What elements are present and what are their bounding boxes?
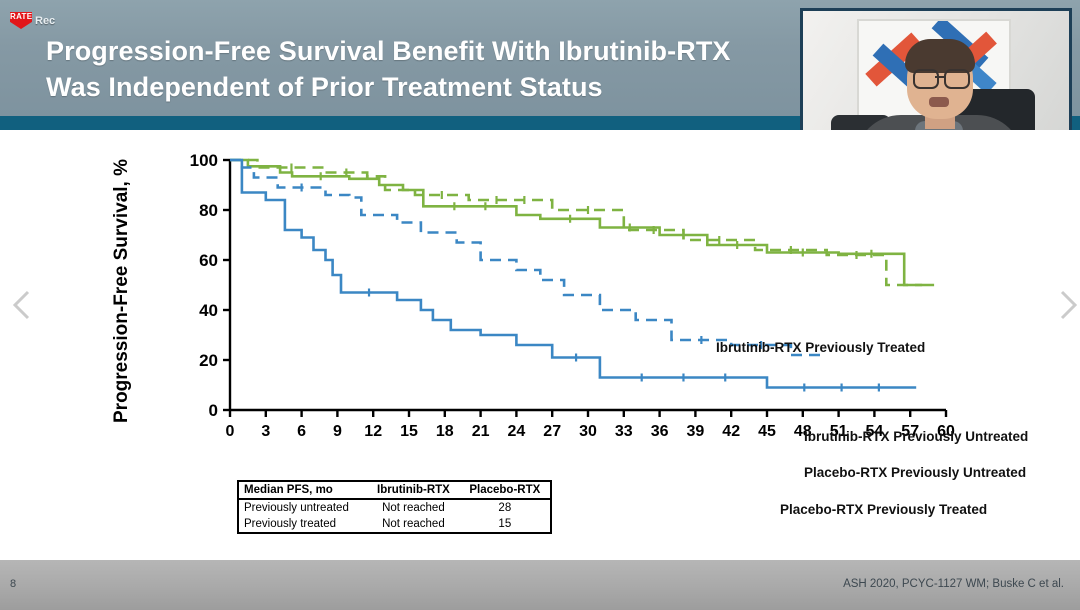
x-tick-label: 9 xyxy=(333,423,342,440)
curve-label-placebo-untreated: Placebo-RTX Previously Untreated xyxy=(804,465,1026,480)
median-pfs-header-cell: Placebo-RTX xyxy=(460,482,550,499)
x-tick-label: 12 xyxy=(364,423,382,440)
record-label: Rec xyxy=(35,15,55,27)
x-tick-label: 39 xyxy=(687,423,705,440)
curve-label-ibrutinib-treated: Ibrutinib-RTX Previously Treated xyxy=(716,340,925,355)
median-pfs-cell: 15 xyxy=(460,516,550,532)
x-tick-label: 30 xyxy=(579,423,597,440)
y-tick-label: 60 xyxy=(199,251,218,270)
glasses-right-lens-icon xyxy=(944,69,970,89)
curve-label-placebo-treated: Placebo-RTX Previously Treated xyxy=(780,502,987,517)
x-tick-label: 33 xyxy=(615,423,633,440)
x-tick-label: 42 xyxy=(722,423,740,440)
median-pfs-cell: Not reached xyxy=(367,516,459,532)
glasses-left-lens-icon xyxy=(913,69,939,89)
record-badge-text: RATE xyxy=(10,12,32,21)
median-pfs-table: Median PFS, moIbrutinib-RTXPlacebo-RTXPr… xyxy=(239,482,550,532)
series-placebo-rtx-previously-untreated xyxy=(230,160,827,355)
y-tick-label: 40 xyxy=(199,301,218,320)
slide-footer: 8 ASH 2020, PCYC-1127 WM; Buske C et al. xyxy=(0,560,1080,610)
y-tick-label: 100 xyxy=(190,151,218,170)
median-pfs-cell: Not reached xyxy=(367,499,459,516)
page-number: 8 xyxy=(10,578,16,590)
presenter-mouth xyxy=(929,97,949,107)
x-tick-label: 27 xyxy=(543,423,561,440)
previous-slide-chevron-icon[interactable] xyxy=(8,288,38,322)
x-tick-label: 45 xyxy=(758,423,776,440)
x-tick-label: 24 xyxy=(508,423,526,440)
y-tick-label: 80 xyxy=(199,201,218,220)
x-tick-label: 15 xyxy=(400,423,418,440)
source-citation: ASH 2020, PCYC-1127 WM; Buske C et al. xyxy=(843,578,1064,590)
median-pfs-row: Previously untreatedNot reached28 xyxy=(239,499,550,516)
next-slide-chevron-icon[interactable] xyxy=(1052,288,1080,322)
x-tick-label: 0 xyxy=(226,423,235,440)
x-tick-label: 21 xyxy=(472,423,490,440)
y-tick-label: 0 xyxy=(209,401,218,420)
median-pfs-row: Previously treatedNot reached15 xyxy=(239,516,550,532)
record-shield-icon: RATE xyxy=(10,12,32,29)
curve-label-ibrutinib-untreated: Ibrutinib-RTX Previously Untreated xyxy=(804,429,1028,444)
recording-indicator: RATE Rec xyxy=(10,12,55,29)
glasses-bridge-icon xyxy=(935,76,944,78)
slide-body: Progression-Free Survival, % 02040608010… xyxy=(0,130,1080,560)
series-ibrutinib-rtx-previously-treated xyxy=(230,160,934,285)
x-tick-label: 18 xyxy=(436,423,454,440)
median-pfs-header-cell: Median PFS, mo xyxy=(239,482,367,499)
kaplan-meier-chart: 0204060801000369121518212427303336394245… xyxy=(0,130,1080,470)
median-pfs-cell: Previously untreated xyxy=(239,499,367,516)
x-tick-label: 36 xyxy=(651,423,669,440)
median-pfs-header-row: Median PFS, moIbrutinib-RTXPlacebo-RTX xyxy=(239,482,550,499)
median-pfs-cell: 28 xyxy=(460,499,550,516)
presentation-slide-viewer: RATE Rec Progression-Free Survival Benef… xyxy=(0,0,1080,610)
median-pfs-cell: Previously treated xyxy=(239,516,367,532)
median-pfs-header-cell: Ibrutinib-RTX xyxy=(367,482,459,499)
y-tick-label: 20 xyxy=(199,351,218,370)
slide-title: Progression-Free Survival Benefit With I… xyxy=(46,34,766,105)
x-tick-label: 6 xyxy=(297,423,306,440)
x-tick-label: 3 xyxy=(261,423,270,440)
presenter-hair xyxy=(905,39,975,73)
median-pfs-inset-table: Median PFS, moIbrutinib-RTXPlacebo-RTXPr… xyxy=(237,480,552,534)
